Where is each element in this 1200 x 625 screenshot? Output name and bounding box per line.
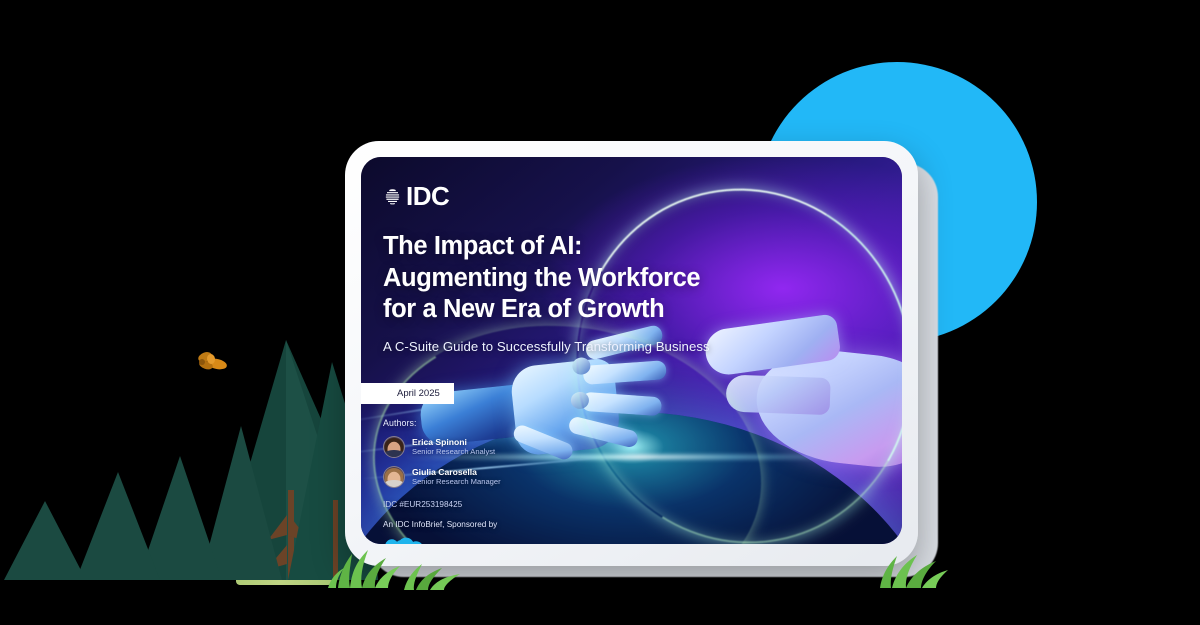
author-role: Senior Research Analyst [412, 447, 495, 456]
grass-tuft-center [398, 560, 468, 590]
cover-content: IDC The Impact of AI: Augmenting the Wor… [361, 157, 902, 544]
avatar [383, 466, 405, 488]
author-meta: Giulia Carosella Senior Research Manager [412, 467, 501, 486]
page-subtitle: A C-Suite Guide to Successfully Transfor… [383, 339, 902, 354]
scene: IDC The Impact of AI: Augmenting the Wor… [0, 0, 1200, 625]
author-role: Senior Research Manager [412, 477, 501, 486]
title-line-2: Augmenting the Workforce [383, 263, 763, 295]
author-entry-1: Erica Spinoni Senior Research Analyst [383, 436, 902, 458]
tablet-screen: IDC The Impact of AI: Augmenting the Wor… [361, 157, 902, 544]
tablet-device: IDC The Impact of AI: Augmenting the Wor… [345, 141, 918, 566]
author-meta: Erica Spinoni Senior Research Analyst [412, 437, 495, 456]
page-title: The Impact of AI: Augmenting the Workfor… [383, 231, 763, 326]
grass-tuft-right [872, 548, 956, 588]
bee-icon [192, 348, 232, 378]
avatar-shoulders [383, 450, 405, 458]
document-id: IDC #EUR253198425 [383, 500, 902, 509]
idc-globe-icon [383, 187, 402, 206]
author-name: Giulia Carosella [412, 467, 501, 477]
sponsor-line: An IDC InfoBrief, Sponsored by [383, 520, 902, 529]
date-badge: April 2025 [361, 383, 454, 404]
idc-logo: IDC [383, 183, 902, 209]
idc-wordmark: IDC [406, 183, 449, 209]
avatar [383, 436, 405, 458]
salesforce-logo: salesforce [383, 536, 427, 544]
title-line-3: for a New Era of Growth [383, 294, 763, 326]
salesforce-wordmark: salesforce [383, 536, 427, 544]
author-entry-2: Giulia Carosella Senior Research Manager [383, 466, 902, 488]
title-line-1: The Impact of AI: [383, 231, 763, 263]
avatar-shoulders [383, 480, 405, 488]
authors-label: Authors: [383, 418, 902, 428]
author-name: Erica Spinoni [412, 437, 495, 447]
